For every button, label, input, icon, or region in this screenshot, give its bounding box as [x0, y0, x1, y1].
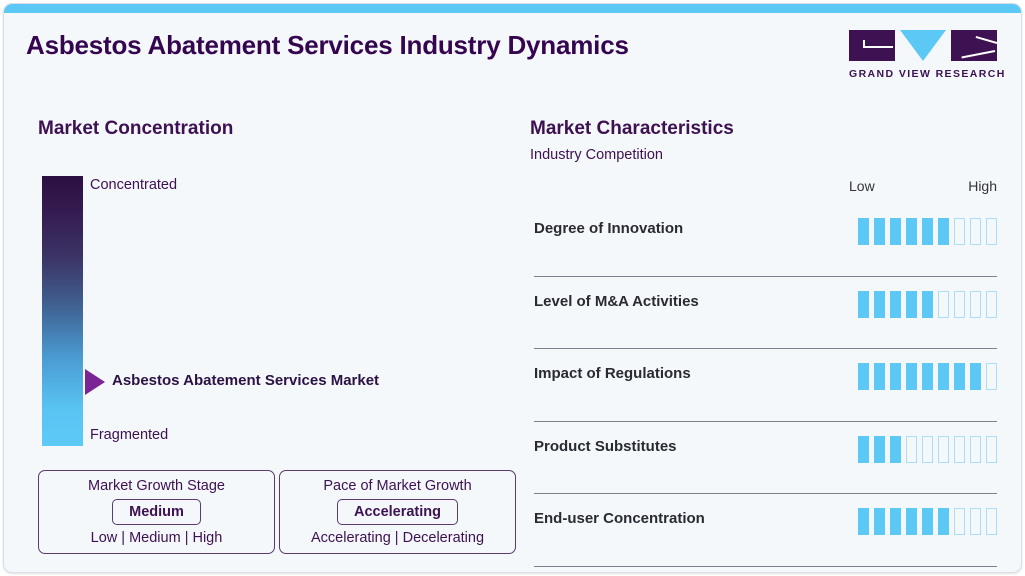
rating-segment-empty: [970, 436, 981, 463]
logo-triangle-icon: [900, 30, 946, 61]
rating-segment-filled: [938, 218, 949, 245]
market-position-label: Asbestos Abatement Services Market: [112, 372, 379, 389]
rating-segment-filled: [874, 508, 885, 535]
page-title: Asbestos Abatement Services Industry Dyn…: [26, 30, 629, 61]
rating-segment-filled: [922, 508, 933, 535]
rating-segment-filled: [874, 218, 885, 245]
market-growth-stage-scale: Low | Medium | High: [91, 530, 223, 546]
logo-marks: [849, 30, 997, 61]
logo-wordmark: GRAND VIEW RESEARCH: [849, 68, 997, 80]
rating-segment-filled: [938, 363, 949, 390]
rating-segment-empty: [954, 508, 965, 535]
rating-segment-filled: [858, 363, 869, 390]
rating-segment-filled: [858, 436, 869, 463]
rating-segment-filled: [906, 363, 917, 390]
characteristic-label: Impact of Regulations: [534, 365, 691, 382]
rating-segment-filled: [890, 291, 901, 318]
scale-label-low: Low: [849, 178, 875, 194]
rating-segment-filled: [874, 291, 885, 318]
logo-r-icon: [951, 30, 997, 61]
market-position-arrow-icon: [85, 369, 105, 395]
rating-segment-empty: [922, 436, 933, 463]
pace-of-market-growth-value: Accelerating: [337, 499, 458, 525]
market-growth-stage-title: Market Growth Stage: [88, 478, 225, 494]
rating-segment-empty: [970, 291, 981, 318]
rating-segment-filled: [890, 218, 901, 245]
rating-segment-filled: [890, 508, 901, 535]
logo-g-icon: [849, 30, 895, 61]
characteristic-label: End-user Concentration: [534, 510, 705, 527]
rating-segment-empty: [986, 218, 997, 245]
rating-segment-filled: [874, 363, 885, 390]
scale-label-high: High: [961, 178, 997, 194]
characteristic-rating-bars: [858, 436, 997, 463]
rating-segment-filled: [954, 363, 965, 390]
characteristic-rating-bars: [858, 363, 997, 390]
rating-segment-empty: [970, 508, 981, 535]
rating-segment-empty: [986, 291, 997, 318]
market-growth-stage-value: Medium: [112, 499, 201, 525]
rating-segment-filled: [922, 218, 933, 245]
rating-segment-filled: [922, 363, 933, 390]
rating-segment-filled: [938, 508, 949, 535]
rating-segment-filled: [858, 218, 869, 245]
rating-segment-empty: [938, 436, 949, 463]
rating-segment-empty: [954, 436, 965, 463]
characteristic-label: Level of M&A Activities: [534, 293, 699, 310]
market-growth-stage-box: Market Growth Stage Medium Low | Medium …: [38, 470, 275, 554]
brand-logo: GRAND VIEW RESEARCH: [849, 30, 997, 80]
market-characteristics-subtitle: Industry Competition: [530, 147, 663, 163]
market-concentration-title: Market Concentration: [38, 118, 233, 140]
pace-of-market-growth-title: Pace of Market Growth: [323, 478, 471, 494]
characteristics-list: Degree of InnovationLevel of M&A Activit…: [534, 204, 997, 567]
infographic-card: Asbestos Abatement Services Industry Dyn…: [3, 3, 1022, 573]
rating-segment-empty: [986, 436, 997, 463]
characteristic-rating-bars: [858, 508, 997, 535]
characteristic-label: Product Substitutes: [534, 438, 677, 455]
rating-segment-empty: [954, 291, 965, 318]
rating-segment-filled: [970, 363, 981, 390]
pace-of-market-growth-scale: Accelerating | Decelerating: [311, 530, 484, 546]
rating-segment-empty: [970, 218, 981, 245]
characteristic-row: Product Substitutes: [534, 422, 997, 495]
concentration-bottom-label: Fragmented: [90, 427, 168, 443]
characteristic-row: Level of M&A Activities: [534, 277, 997, 350]
characteristic-row: Degree of Innovation: [534, 204, 997, 277]
concentration-top-label: Concentrated: [90, 177, 177, 193]
top-accent-bar: [4, 4, 1021, 13]
concentration-gradient-scale: [42, 176, 83, 446]
characteristic-row: End-user Concentration: [534, 494, 997, 567]
pace-of-market-growth-box: Pace of Market Growth Accelerating Accel…: [279, 470, 516, 554]
rating-segment-empty: [986, 363, 997, 390]
rating-segment-filled: [858, 291, 869, 318]
rating-segment-filled: [922, 291, 933, 318]
market-characteristics-title: Market Characteristics: [530, 118, 734, 140]
characteristic-rating-bars: [858, 218, 997, 245]
rating-segment-empty: [938, 291, 949, 318]
rating-segment-filled: [890, 363, 901, 390]
characteristic-rating-bars: [858, 291, 997, 318]
rating-segment-filled: [906, 508, 917, 535]
characteristic-row: Impact of Regulations: [534, 349, 997, 422]
rating-segment-filled: [906, 291, 917, 318]
rating-segment-empty: [954, 218, 965, 245]
rating-segment-filled: [890, 436, 901, 463]
characteristic-label: Degree of Innovation: [534, 220, 683, 237]
rating-segment-filled: [906, 218, 917, 245]
rating-segment-filled: [874, 436, 885, 463]
rating-segment-empty: [986, 508, 997, 535]
rating-segment-filled: [858, 508, 869, 535]
rating-segment-empty: [906, 436, 917, 463]
